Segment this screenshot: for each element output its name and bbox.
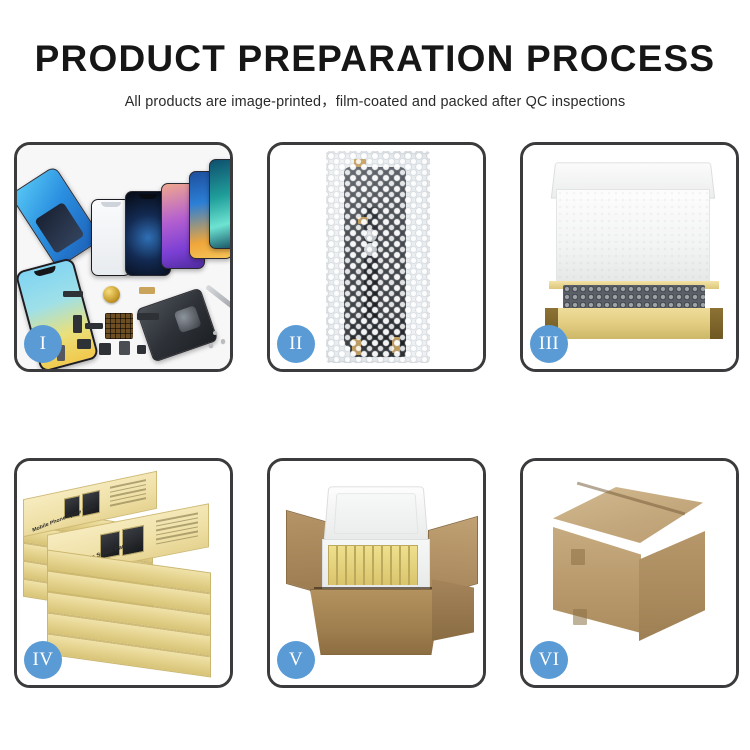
part-chip-8 bbox=[119, 341, 130, 355]
carton-body-icon bbox=[310, 589, 442, 655]
phone-teal-icon bbox=[209, 159, 230, 249]
carton-tape-upper bbox=[571, 549, 585, 565]
lid-window-2b bbox=[122, 525, 144, 556]
part-chip-1 bbox=[63, 291, 83, 297]
process-step-panel-1[interactable]: I Mobile phones, screens and spare parts… bbox=[14, 142, 233, 372]
step-badge-5: V bbox=[277, 641, 315, 679]
part-chip-6 bbox=[77, 339, 91, 349]
carton-body-side-icon bbox=[432, 579, 474, 641]
gold-coil-part-icon bbox=[103, 286, 120, 303]
box-right-tab bbox=[710, 308, 723, 339]
part-chip-9 bbox=[137, 345, 146, 354]
page-header: PRODUCT PREPARATION PROCESS All products… bbox=[0, 0, 750, 111]
process-step-panel-5[interactable]: V Carton with foam liner filled with ret… bbox=[267, 458, 486, 688]
page-subtitle: All products are image-printed，film-coat… bbox=[0, 79, 750, 111]
packed-retail-boxes-icon bbox=[328, 545, 422, 585]
process-step-panel-6[interactable]: VI Sealed brown shipping carton bbox=[520, 458, 739, 688]
part-chip-7 bbox=[99, 343, 111, 355]
bubble-texture-overlay bbox=[326, 151, 430, 363]
part-chip-3 bbox=[73, 315, 82, 333]
process-step-grid: I Mobile phones, screens and spare parts… bbox=[14, 142, 740, 684]
lid-printed-lines-2 bbox=[156, 512, 198, 547]
process-step-panel-2[interactable]: II Screen assembly sealed in bubble wrap bbox=[267, 142, 486, 372]
lid-printed-lines-1 bbox=[110, 479, 146, 509]
foam-sheet-icon bbox=[556, 189, 710, 289]
kraft-box-front-icon bbox=[545, 308, 723, 339]
screw-icon-3 bbox=[209, 343, 213, 347]
screw-icon-2 bbox=[221, 339, 225, 343]
bubble-wrap-bag-icon bbox=[326, 151, 430, 363]
step-badge-1: I bbox=[24, 325, 62, 363]
process-step-panel-3[interactable]: III Open kraft box with foam padding and… bbox=[520, 142, 739, 372]
page-title: PRODUCT PREPARATION PROCESS bbox=[0, 0, 750, 79]
step-badge-4: IV bbox=[24, 641, 62, 679]
screw-icon-1 bbox=[213, 331, 217, 335]
process-step-panel-4[interactable]: Mobile Phone Spare Parts Mobile Phone Sp… bbox=[14, 458, 233, 688]
step-badge-3: III bbox=[530, 325, 568, 363]
step-badge-2: II bbox=[277, 325, 315, 363]
grid-chip-part-icon bbox=[105, 313, 133, 339]
carton-tape-lower bbox=[573, 609, 587, 625]
foam-lid-icon bbox=[324, 486, 429, 542]
step-badge-6: VI bbox=[530, 641, 568, 679]
part-chip-5 bbox=[137, 313, 159, 320]
part-chip-4 bbox=[85, 323, 103, 329]
part-chip-2 bbox=[139, 287, 155, 294]
